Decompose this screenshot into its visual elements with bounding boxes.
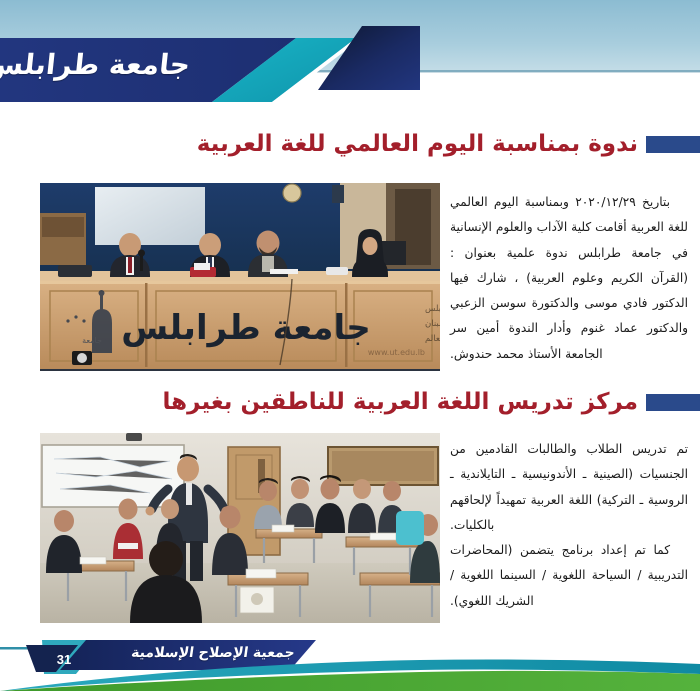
seminar-photo-graphic: جامعة طرابلس جامعة لطرابلس ولبنان والعال… bbox=[40, 183, 440, 371]
svg-text:ولبنان: ولبنان bbox=[425, 319, 440, 329]
title-accent-bar bbox=[646, 394, 700, 411]
seminar-panel-photo: جامعة طرابلس جامعة لطرابلس ولبنان والعال… bbox=[40, 183, 440, 371]
paragraph: تم تدريس الطلاب والطالبات القادمين من ال… bbox=[450, 437, 688, 538]
paragraph: بتاريخ ٢٠٢٠/١٢/٢٩ وبمناسبة اليوم العالمي… bbox=[450, 190, 688, 367]
paragraph: كما تم إعداد برنامج يتضمن (المحاضرات الت… bbox=[450, 538, 688, 614]
desk-calligraphy: جامعة طرابلس bbox=[121, 308, 371, 348]
section-title-text: ندوة بمناسبة اليوم العالمي للغة العربية bbox=[197, 132, 638, 157]
section-title-seminar: ندوة بمناسبة اليوم العالمي للغة العربية bbox=[40, 132, 700, 157]
title-accent-bar bbox=[646, 136, 700, 153]
page-footer bbox=[0, 630, 700, 691]
section-title-arabic-center: مركز تدريس اللغة العربية للناطقين بغيرها bbox=[40, 390, 700, 415]
header-graphic bbox=[0, 0, 700, 120]
footer-graphic bbox=[0, 630, 700, 691]
section-title-text: مركز تدريس اللغة العربية للناطقين بغيرها bbox=[163, 390, 638, 415]
arabic-center-body-text: تم تدريس الطلاب والطالبات القادمين من ال… bbox=[450, 437, 688, 614]
classroom-photo bbox=[40, 433, 440, 623]
seminar-body-text: بتاريخ ٢٠٢٠/١٢/٢٩ وبمناسبة اليوم العالمي… bbox=[450, 190, 688, 367]
page-header: جامعة طرابلس bbox=[0, 0, 700, 120]
svg-text:لطرابلس: لطرابلس bbox=[425, 304, 440, 314]
classroom-photo-graphic bbox=[40, 433, 440, 623]
svg-text:www.ut.edu.lb: www.ut.edu.lb bbox=[368, 348, 425, 357]
svg-text:جامعة: جامعة bbox=[82, 336, 102, 345]
newsletter-page: جامعة طرابلس ندوة بمناسبة اليوم العالمي … bbox=[0, 0, 700, 691]
svg-text:والعالم: والعالم bbox=[425, 334, 440, 344]
